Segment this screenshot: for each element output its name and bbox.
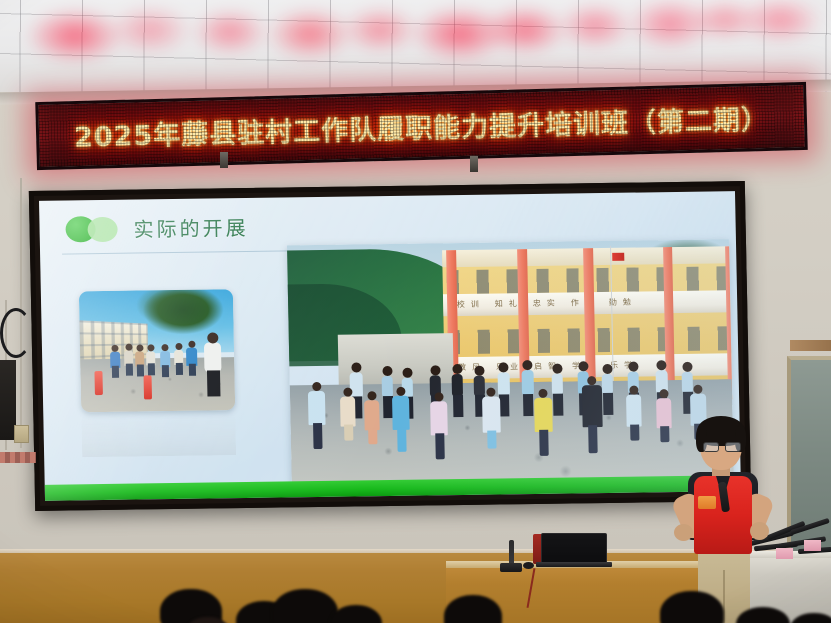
- two-circles-icon: [65, 215, 120, 242]
- slogan-word: 忠实: [533, 298, 561, 309]
- photo-reflection: [81, 411, 236, 457]
- outdoor-activity-photo: [79, 289, 235, 412]
- pink-handout: [804, 540, 821, 551]
- audience-head: [330, 605, 382, 623]
- photo-child: [430, 401, 448, 435]
- audience-head: [444, 595, 502, 623]
- audience-head: [790, 613, 831, 623]
- photo-photographer: [350, 372, 364, 398]
- baseboard-tile-strip: [0, 452, 36, 463]
- photo-child: [534, 398, 553, 432]
- photo-person: [474, 376, 485, 397]
- projection-screen[interactable]: 实际的开展: [29, 181, 751, 511]
- photo-volunteer: [204, 342, 222, 372]
- glasses-icon: [703, 442, 739, 450]
- slide-title: 实际的开展: [133, 212, 249, 243]
- conference-room-screenshot: 2025年藤县驻村工作队履职能力提升培训班（第二期） 实际的开展: [0, 0, 831, 623]
- photo-tree-canopy: [127, 289, 236, 344]
- presenter-right-hand: [750, 522, 769, 540]
- slogan-word: 勤勉: [609, 297, 637, 308]
- slide-accent-bar: [45, 475, 741, 501]
- photo-person: [552, 374, 563, 396]
- photo-child: [364, 400, 380, 430]
- photo-adult: [582, 385, 603, 427]
- photo-person: [682, 372, 693, 394]
- slide-header: 实际的开展: [65, 212, 249, 244]
- photo-child: [482, 396, 501, 432]
- photo-child: [135, 351, 144, 366]
- banner-bracket-right: [470, 156, 478, 172]
- presenter-left-hand: [674, 524, 693, 541]
- photo-child: [110, 352, 120, 368]
- photo-child: [174, 350, 183, 365]
- photo-person: [452, 374, 463, 397]
- vest-logo: [698, 496, 716, 509]
- photo-child: [308, 391, 326, 425]
- photo-person: [602, 374, 613, 395]
- ceiling: [0, 0, 831, 92]
- photo-child: [392, 396, 410, 430]
- national-flag: [612, 253, 624, 261]
- banner-bracket-left: [220, 152, 228, 168]
- led-banner-text: 2025年藤县驻村工作队履职能力提升培训班（第二期）: [39, 96, 805, 155]
- slogan-word: 校训: [457, 299, 485, 310]
- photo-person: [382, 376, 393, 398]
- photo-adult: [186, 348, 197, 366]
- wall-stripe: [790, 340, 831, 351]
- photo-child: [160, 351, 170, 367]
- wall-outlet: [14, 425, 29, 443]
- pink-handout: [776, 548, 793, 559]
- photo-child: [340, 396, 356, 426]
- photo-person: [522, 370, 535, 396]
- glasses-lens: [725, 442, 741, 452]
- hanging-cable: [0, 308, 32, 358]
- glasses-lens: [703, 442, 719, 452]
- audience-row: [0, 560, 831, 623]
- presentation-slide: 实际的开展: [39, 191, 741, 501]
- circle-game-photo: 校训 知礼 忠实 作风 勤勉 教风 乐业 启智 学风 乐学: [287, 239, 734, 487]
- circle-light-icon: [87, 216, 117, 241]
- red-cone: [144, 375, 152, 399]
- red-cone: [94, 371, 102, 395]
- photo-child: [656, 398, 672, 428]
- photo-person: [498, 372, 510, 396]
- photo-child: [146, 351, 155, 365]
- audience-head: [660, 591, 724, 623]
- photo-child: [124, 351, 133, 366]
- ceiling-red-glow: [0, 0, 831, 92]
- audience-head: [736, 607, 790, 623]
- audience-head: [272, 589, 338, 623]
- photo-child: [626, 394, 642, 426]
